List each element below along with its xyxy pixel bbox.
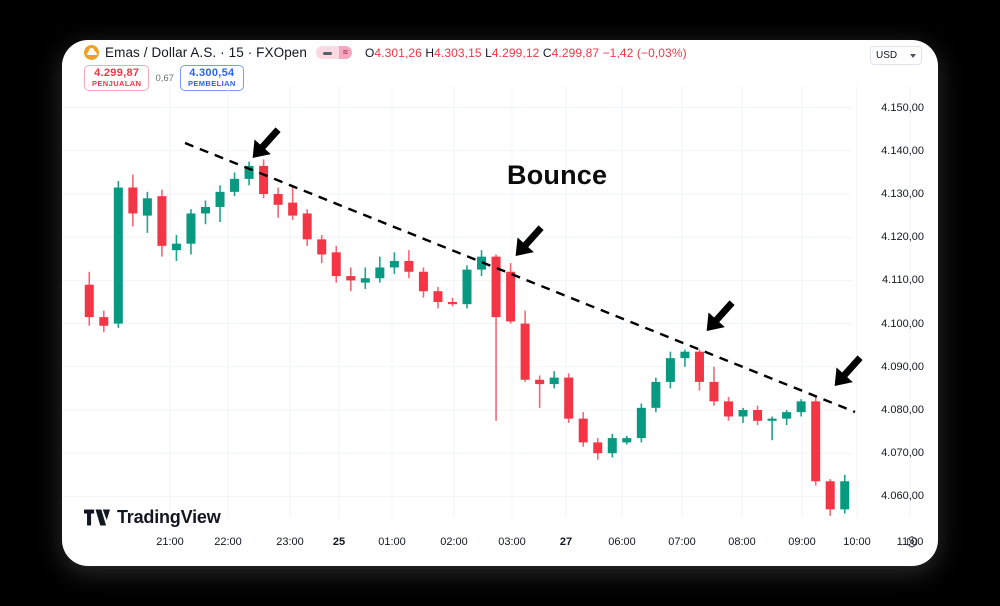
tradingview-watermark: TradingView: [84, 507, 221, 528]
price-tick-label: 4.150,00: [881, 102, 924, 114]
gridlines: [62, 86, 910, 518]
ohlc-l-key: L: [485, 46, 492, 60]
price-tick-label: 4.140,00: [881, 145, 924, 157]
chevron-down-icon: [910, 54, 916, 58]
time-tick-label: 02:00: [440, 536, 468, 548]
tradingview-label: TradingView: [117, 507, 221, 528]
time-tick-label: 11:00: [897, 536, 924, 548]
time-tick-label: 21:00: [156, 536, 184, 548]
ohlc-o-key: O: [365, 46, 374, 60]
tradingview-logo-icon: [84, 509, 110, 526]
time-tick-label: 03:00: [498, 536, 526, 548]
time-tick-label: 01:00: [378, 536, 406, 548]
time-axis[interactable]: 21:0022:0023:002501:0002:0003:002706:000…: [62, 532, 938, 556]
ohlc-h-key: H: [425, 46, 434, 60]
time-tick-label: 06:00: [608, 536, 636, 548]
currency-select[interactable]: USD: [870, 46, 922, 65]
ohlc-c-key: C: [543, 46, 552, 60]
time-tick-label: 25: [333, 536, 345, 548]
buy-price: 4.300,54: [188, 68, 236, 80]
screenshot-root: Emas / Dollar A.S. · 15 · FXOpen ≈ O4.30…: [0, 0, 1000, 606]
time-tick-label: 08:00: [728, 536, 756, 548]
price-tick-label: 4.110,00: [882, 274, 924, 286]
bounce-annotation: Bounce: [507, 160, 607, 191]
time-tick-label: 23:00: [276, 536, 304, 548]
price-tick-label: 4.060,00: [881, 490, 924, 502]
spread-value: 0,67: [155, 73, 174, 84]
time-tick-label: 27: [560, 536, 572, 548]
time-tick-label: 10:00: [843, 536, 871, 548]
bar-style-dash: [316, 46, 339, 59]
ohlc-o-val: 4.301,26: [374, 46, 422, 60]
price-tick-label: 4.090,00: [881, 361, 924, 373]
symbol-legend[interactable]: Emas / Dollar A.S. · 15 · FXOpen ≈ O4.30…: [84, 45, 687, 60]
candle-series: [85, 159, 849, 515]
time-tick-label: 09:00: [788, 536, 816, 548]
candlestick-plot[interactable]: [62, 86, 938, 518]
price-tick-label: 4.130,00: [881, 188, 924, 200]
symbol-title[interactable]: Emas / Dollar A.S. · 15 · FXOpen: [105, 45, 307, 60]
price-tick-label: 4.070,00: [881, 447, 924, 459]
sell-price: 4.299,87: [92, 68, 141, 80]
ohlc-values: O4.301,26 H4.303,15 L4.299,12 C4.299,87 …: [365, 46, 687, 60]
ohlc-change: −1,42 (−0,03%): [603, 46, 687, 60]
ohlc-l-val: 4.299,12: [492, 46, 540, 60]
price-tick-label: 4.120,00: [881, 231, 924, 243]
price-axis[interactable]: 4.150,004.140,004.130,004.120,004.110,00…: [852, 86, 938, 518]
time-tick-label: 22:00: [214, 536, 242, 548]
ohlc-c-val: 4.299,87: [552, 46, 600, 60]
time-tick-label: 07:00: [668, 536, 696, 548]
chart-card: Emas / Dollar A.S. · 15 · FXOpen ≈ O4.30…: [62, 40, 938, 566]
indicator-icon[interactable]: ≈: [339, 46, 352, 59]
price-tick-label: 4.100,00: [881, 318, 924, 330]
currency-value: USD: [876, 50, 897, 61]
gold-coin-icon: [84, 45, 99, 60]
bar-style-icon[interactable]: ≈: [316, 46, 352, 59]
price-tick-label: 4.080,00: [881, 404, 924, 416]
ohlc-h-val: 4.303,15: [434, 46, 482, 60]
